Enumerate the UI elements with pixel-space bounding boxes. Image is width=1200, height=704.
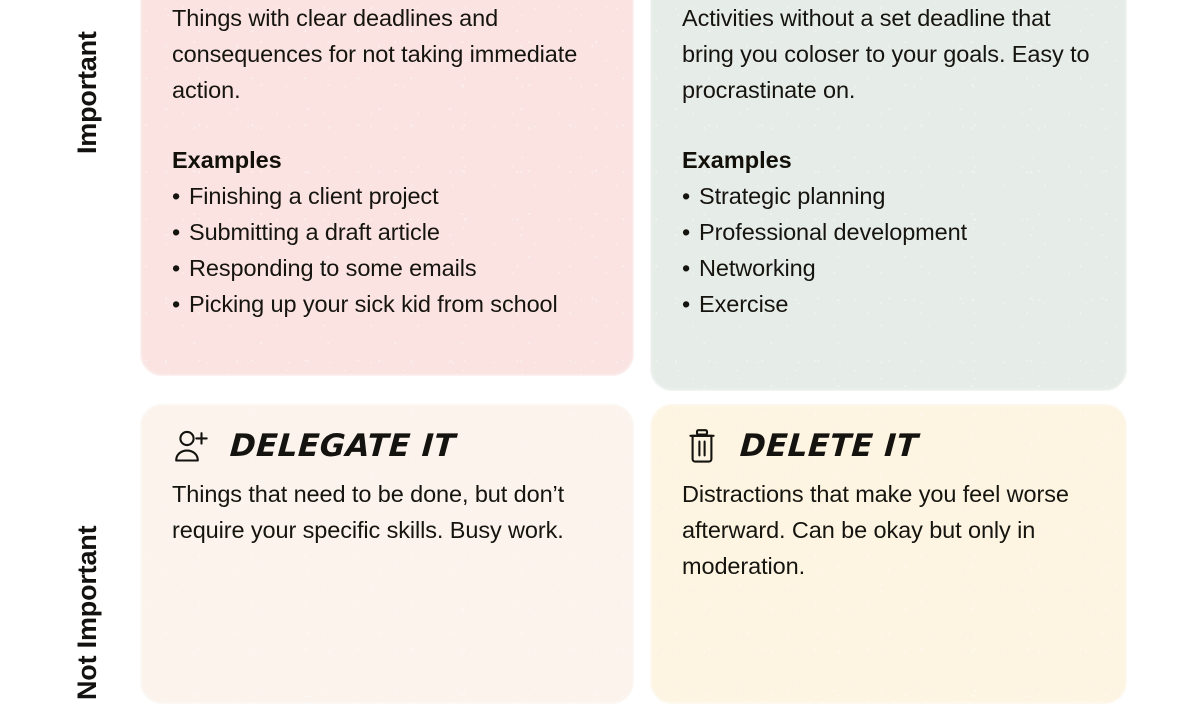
quadrant-card-do[interactable]: Things with clear deadlines and conseque…: [140, 0, 634, 376]
quadrant-description: Distractions that make you feel worse af…: [682, 470, 1097, 584]
axis-label-important: Important: [72, 31, 103, 154]
person-add-icon: [172, 426, 212, 466]
example-item: Submitting a draft article: [172, 214, 604, 250]
quadrant-title: DELEGATE IT: [229, 431, 457, 462]
quadrant-title: DELETE IT: [739, 431, 919, 462]
quadrant-card-delegate[interactable]: DELEGATE IT Things that need to be done,…: [140, 404, 634, 704]
example-item: Finishing a client project: [172, 178, 604, 214]
quadrant-header: DELETE IT: [682, 404, 1097, 470]
examples-list: Strategic planningProfessional developme…: [682, 178, 1097, 322]
example-item: Professional development: [682, 214, 1097, 250]
quadrant-description: Activities without a set deadline that b…: [682, 0, 1097, 108]
axis-label-not-important: Not Important: [72, 526, 103, 700]
quadrant-description: Things that need to be done, but don’t r…: [172, 470, 604, 548]
quadrant-card-delete[interactable]: DELETE IT Distractions that make you fee…: [650, 404, 1127, 704]
example-item: Picking up your sick kid from school: [172, 286, 604, 322]
quadrant-header: DELEGATE IT: [172, 404, 604, 470]
quadrant-description: Things with clear deadlines and conseque…: [172, 0, 604, 108]
eisenhower-matrix: Important Not Important Things with clea…: [0, 0, 1200, 630]
example-item: Strategic planning: [682, 178, 1097, 214]
example-item: Responding to some emails: [172, 250, 604, 286]
examples-heading: Examples: [682, 108, 1097, 178]
quadrant-card-schedule[interactable]: Activities without a set deadline that b…: [650, 0, 1127, 391]
example-item: Exercise: [682, 286, 1097, 322]
trash-icon: [682, 426, 722, 466]
examples-heading: Examples: [172, 108, 604, 178]
examples-list: Finishing a client projectSubmitting a d…: [172, 178, 604, 322]
example-item: Networking: [682, 250, 1097, 286]
